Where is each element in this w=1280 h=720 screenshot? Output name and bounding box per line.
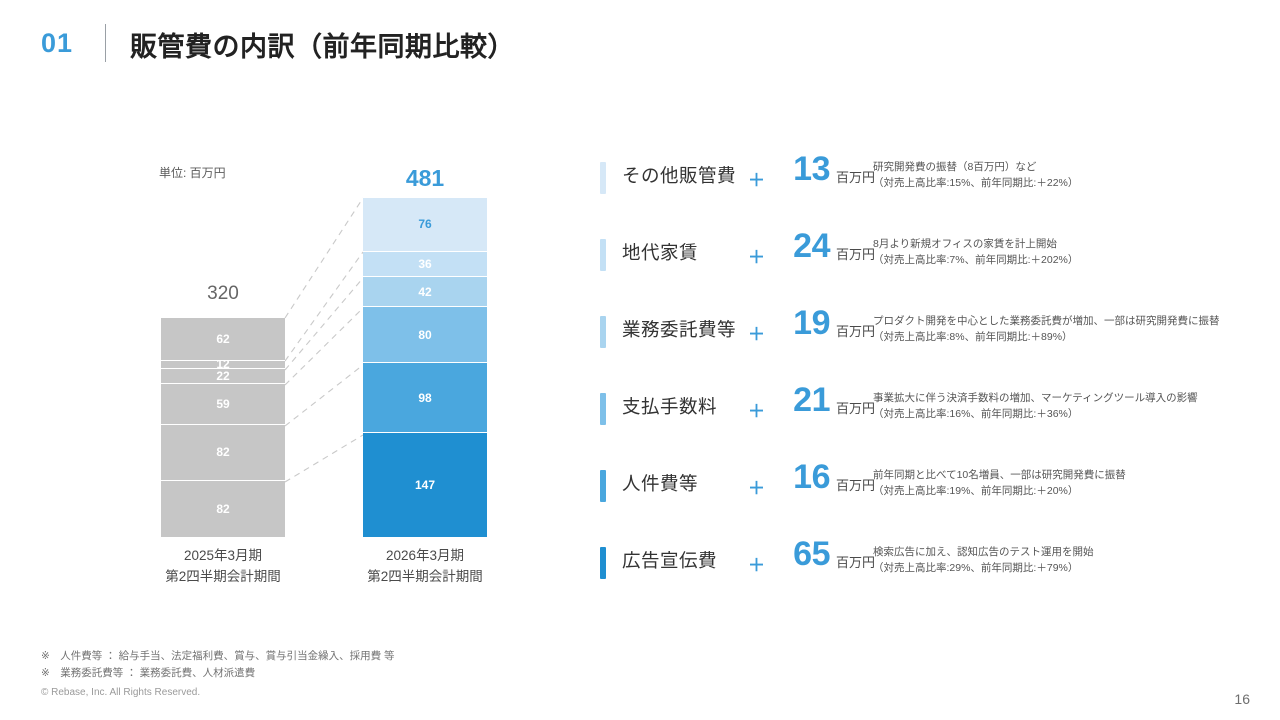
bar-segment-value: 82 xyxy=(216,445,229,459)
bar-segment-value: 42 xyxy=(418,285,431,299)
copyright: © Rebase, Inc. All Rights Reserved. xyxy=(41,687,200,698)
expense-description-line1: 8月より新規オフィスの家賃を計上開始 xyxy=(873,236,1273,252)
expense-description-line1: 事業拡大に伴う決済手数料の増加、マーケティングツール導入の影響 xyxy=(873,390,1273,406)
breakdown-row[interactable]: 地代家賃＋24百万円8月より新規オフィスの家賃を計上開始（対売上高比率:7%、前… xyxy=(596,227,1280,304)
bar-segment-value: 36 xyxy=(418,257,431,271)
expense-description: 事業拡大に伴う決済手数料の増加、マーケティングツール導入の影響（対売上高比率:1… xyxy=(873,390,1273,423)
bar-segment-prior-2: 22 xyxy=(161,369,285,384)
bar-segment-value: 22 xyxy=(216,369,229,383)
bar-segment-prior-3: 59 xyxy=(161,384,285,425)
breakdown-list: その他販管費＋13百万円研究開発費の振替（8百万円）など（対売上高比率:15%、… xyxy=(596,150,1280,612)
bar-segment-current-2: 42 xyxy=(363,277,487,307)
unit-label: 単位: 百万円 xyxy=(159,164,226,181)
bar-segment-current-5: 147 xyxy=(363,433,487,537)
breakdown-row[interactable]: 支払手数料＋21百万円事業拡大に伴う決済手数料の増加、マーケティングツール導入の… xyxy=(596,381,1280,458)
bar-segment-value: 147 xyxy=(415,478,435,492)
expense-delta-value: 24 xyxy=(768,227,830,266)
plus-sign: ＋ xyxy=(748,320,765,345)
expense-description-line1: 検索広告に加え、認知広告のテスト運用を開始 xyxy=(873,544,1273,560)
plus-sign: ＋ xyxy=(748,243,765,268)
expense-category-label: 支払手数料 xyxy=(622,393,717,419)
row-accent-bar xyxy=(600,470,606,502)
page-number: 16 xyxy=(1234,691,1250,707)
breakdown-row[interactable]: 広告宣伝費＋65百万円検索広告に加え、認知広告のテスト運用を開始（対売上高比率:… xyxy=(596,535,1280,612)
bar-segment-value: 76 xyxy=(418,217,431,231)
expense-description-line2: （対売上高比率:7%、前年同期比:＋202%） xyxy=(873,252,1273,268)
expense-unit-label: 百万円 xyxy=(836,321,875,340)
total-prior-period: 320 xyxy=(161,283,285,305)
bar-segment-value: 12 xyxy=(216,361,229,369)
expense-description-line2: （対売上高比率:29%、前年同期比:＋79%） xyxy=(873,560,1273,576)
expense-description-line2: （対売上高比率:16%、前年同期比:＋36%） xyxy=(873,406,1273,422)
bar-segment-current-0: 76 xyxy=(363,198,487,252)
footnote-2: ※ 業務委託費等 ： 業務委託費、人材派遣費 xyxy=(41,665,395,682)
expense-unit-label: 百万円 xyxy=(836,244,875,263)
breakdown-row[interactable]: その他販管費＋13百万円研究開発費の振替（8百万円）など（対売上高比率:15%、… xyxy=(596,150,1280,227)
row-accent-bar xyxy=(600,162,606,194)
expense-description-line1: 前年同期と比べて10名増員、一部は研究開発費に振替 xyxy=(873,467,1273,483)
bar-segment-value: 59 xyxy=(216,397,229,411)
bar-prior-period: 621222598282 xyxy=(161,318,285,538)
axis-label-prior: 2025年3月期 第2四半期会計期間 xyxy=(133,546,313,588)
expense-unit-label: 百万円 xyxy=(836,398,875,417)
bar-segment-prior-4: 82 xyxy=(161,425,285,481)
expense-description-line1: 研究開発費の振替（8百万円）など xyxy=(873,159,1273,175)
footnote-1: ※ 人件費等 ： 給与手当、法定福利費、賞与、賞与引当金繰入、採用費 等 xyxy=(41,648,395,665)
plus-sign: ＋ xyxy=(748,166,765,191)
axis-label-prior-line1: 2025年3月期 xyxy=(133,546,313,567)
bar-current-period: 7636428098147 xyxy=(363,198,487,538)
bar-segment-value: 62 xyxy=(216,332,229,346)
bar-segment-current-1: 36 xyxy=(363,252,487,277)
bar-segment-prior-0: 62 xyxy=(161,318,285,361)
row-accent-bar xyxy=(600,393,606,425)
expense-description: 8月より新規オフィスの家賃を計上開始（対売上高比率:7%、前年同期比:＋202%… xyxy=(873,236,1273,269)
expense-unit-label: 百万円 xyxy=(836,552,875,571)
row-accent-bar xyxy=(600,547,606,579)
plus-sign: ＋ xyxy=(748,397,765,422)
bar-segment-prior-5: 82 xyxy=(161,481,285,537)
expense-description: 前年同期と比べて10名増員、一部は研究開発費に振替（対売上高比率:19%、前年同… xyxy=(873,467,1273,500)
row-accent-bar xyxy=(600,316,606,348)
axis-label-current-line2: 第2四半期会計期間 xyxy=(335,567,515,588)
expense-description-line2: （対売上高比率:19%、前年同期比:＋20%） xyxy=(873,483,1273,499)
plus-sign: ＋ xyxy=(748,551,765,576)
expense-description-line2: （対売上高比率:15%、前年同期比:＋22%） xyxy=(873,175,1273,191)
stacked-bar-chart: 単位: 百万円 320 481 621222598282 76364280981… xyxy=(0,0,560,620)
expense-delta-value: 16 xyxy=(768,458,830,497)
expense-category-label: 人件費等 xyxy=(622,470,698,496)
expense-unit-label: 百万円 xyxy=(836,167,875,186)
breakdown-row[interactable]: 人件費等＋16百万円前年同期と比べて10名増員、一部は研究開発費に振替（対売上高… xyxy=(596,458,1280,535)
footnotes: ※ 人件費等 ： 給与手当、法定福利費、賞与、賞与引当金繰入、採用費 等 ※ 業… xyxy=(41,648,395,682)
expense-category-label: 地代家賃 xyxy=(622,239,698,265)
expense-description-line2: （対売上高比率:8%、前年同期比:＋89%） xyxy=(873,329,1273,345)
bar-segment-current-3: 80 xyxy=(363,307,487,364)
expense-delta-value: 19 xyxy=(768,304,830,343)
expense-delta-value: 65 xyxy=(768,535,830,574)
expense-category-label: その他販管費 xyxy=(622,162,736,188)
axis-label-current-line1: 2026年3月期 xyxy=(335,546,515,567)
bar-segment-value: 80 xyxy=(418,328,431,342)
bar-segment-current-4: 98 xyxy=(363,363,487,432)
breakdown-row[interactable]: 業務委託費等＋19百万円プロダクト開発を中心とした業務委託費が増加、一部は研究開… xyxy=(596,304,1280,381)
expense-delta-value: 13 xyxy=(768,150,830,189)
bar-segment-value: 82 xyxy=(216,502,229,516)
expense-category-label: 業務委託費等 xyxy=(622,316,736,342)
axis-label-prior-line2: 第2四半期会計期間 xyxy=(133,567,313,588)
expense-unit-label: 百万円 xyxy=(836,475,875,494)
plus-sign: ＋ xyxy=(748,474,765,499)
expense-description: 検索広告に加え、認知広告のテスト運用を開始（対売上高比率:29%、前年同期比:＋… xyxy=(873,544,1273,577)
expense-category-label: 広告宣伝費 xyxy=(622,547,717,573)
expense-description-line1: プロダクト開発を中心とした業務委託費が増加、一部は研究開発費に振替 xyxy=(873,313,1273,329)
row-accent-bar xyxy=(600,239,606,271)
bar-segment-value: 98 xyxy=(418,391,431,405)
bar-segment-prior-1: 12 xyxy=(161,361,285,369)
expense-description: プロダクト開発を中心とした業務委託費が増加、一部は研究開発費に振替（対売上高比率… xyxy=(873,313,1273,346)
total-current-period: 481 xyxy=(363,165,487,192)
expense-delta-value: 21 xyxy=(768,381,830,420)
expense-description: 研究開発費の振替（8百万円）など（対売上高比率:15%、前年同期比:＋22%） xyxy=(873,159,1273,192)
axis-label-current: 2026年3月期 第2四半期会計期間 xyxy=(335,546,515,588)
